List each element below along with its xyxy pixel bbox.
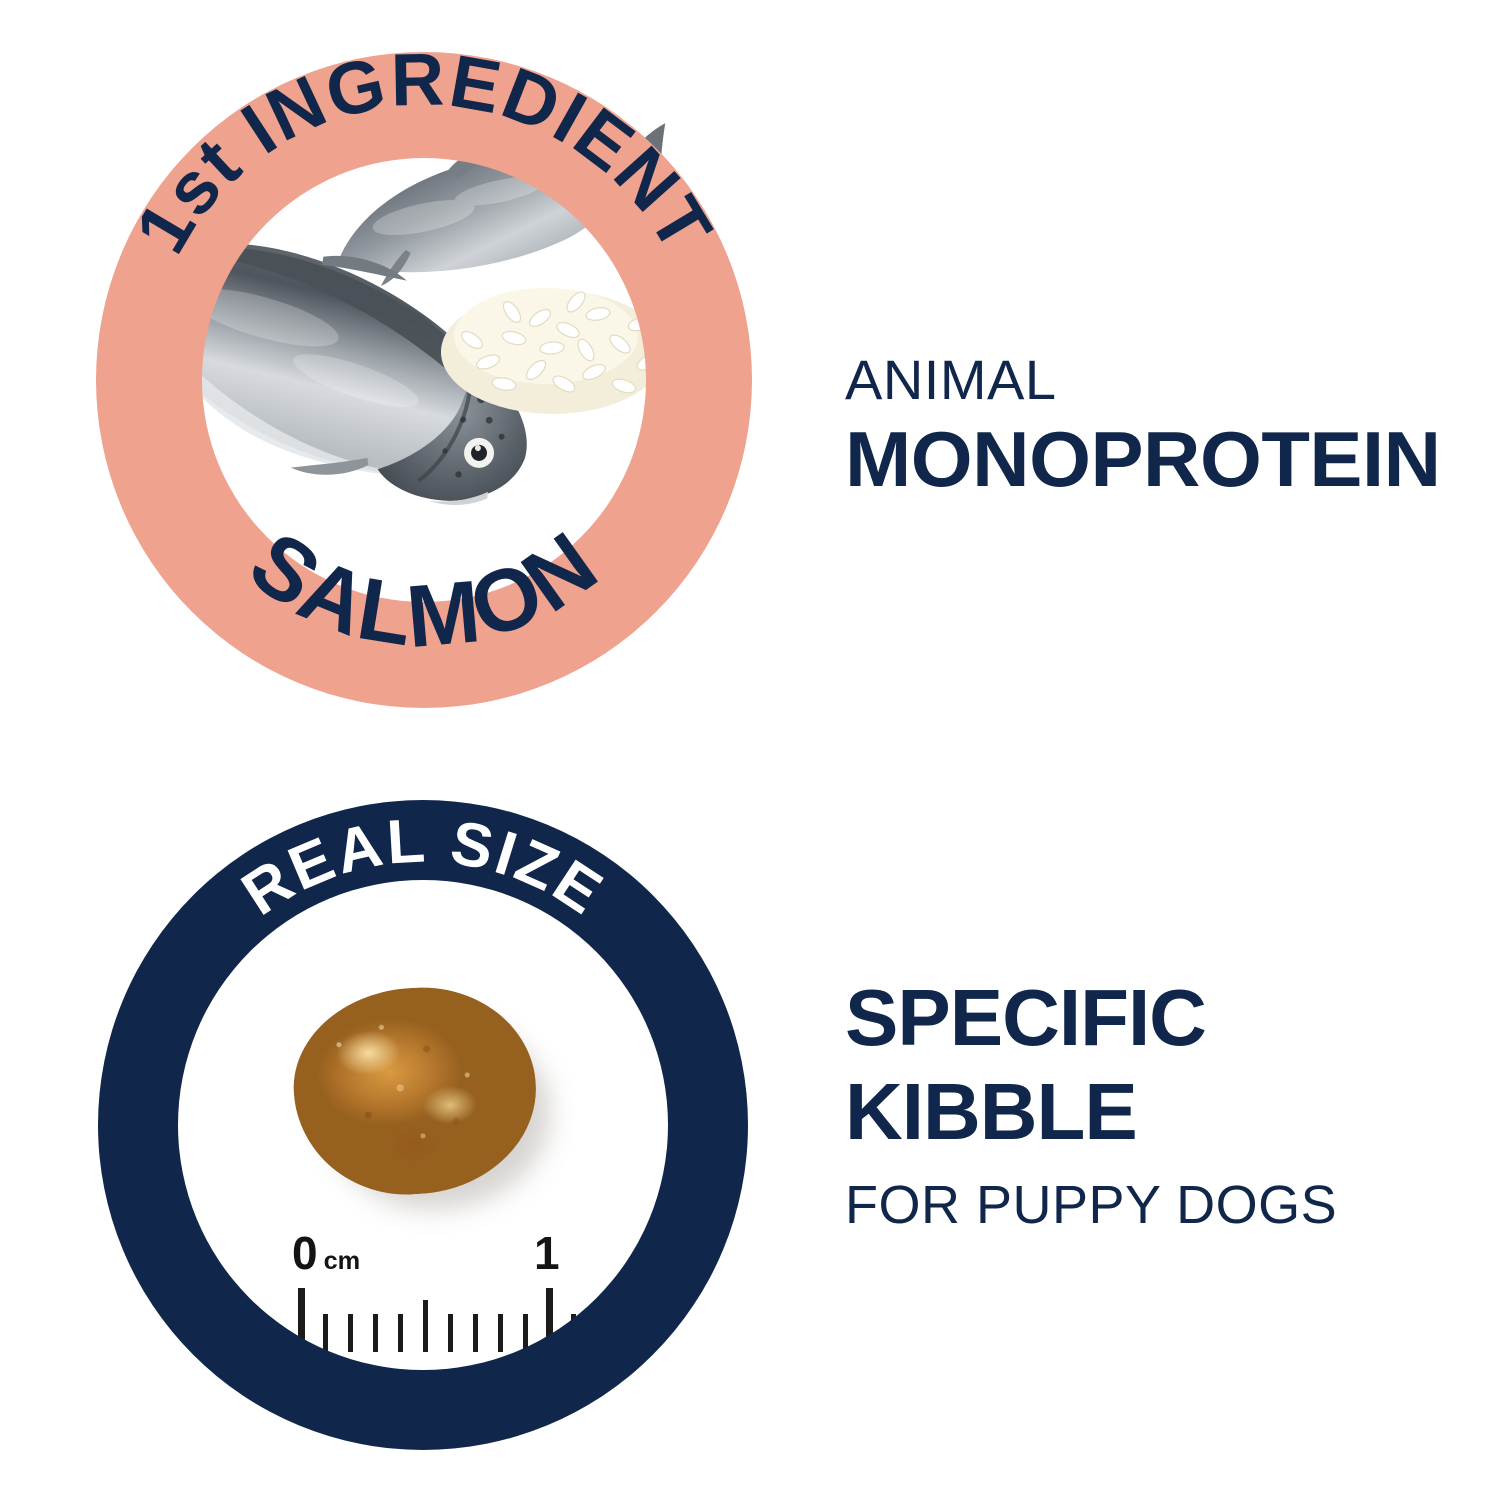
claim-monoprotein-line1: ANIMAL [845, 352, 1429, 408]
ruler-tick-9 [523, 1314, 528, 1352]
claim-kibble-line2: KIBBLE [845, 1072, 1337, 1152]
claim-kibble-line3: FOR PUPPY DOGS [845, 1178, 1337, 1232]
ruler-tick-5 [423, 1300, 428, 1352]
kibble-photo [287, 980, 543, 1202]
claim-kibble-line1: SPECIFIC [845, 978, 1337, 1058]
ruler-unit-label: cm [324, 1247, 361, 1275]
ruler-ticks [276, 1286, 616, 1352]
claim-monoprotein-line2: MONOPROTEIN [845, 420, 1441, 498]
ruler-tick-10 [546, 1288, 553, 1352]
ruler-label-one: 1 [534, 1230, 560, 1276]
claim-kibble: SPECIFIC KIBBLE FOR PUPPY DOGS [845, 978, 1337, 1232]
ruler-tick-4 [398, 1314, 403, 1352]
ruler-tick-6 [448, 1314, 453, 1352]
salmon-and-rice-photo [96, 52, 752, 708]
ruler-tick-7 [473, 1314, 478, 1352]
ruler-label-zero: 0cm [292, 1230, 360, 1276]
ruler-tick-0 [298, 1288, 305, 1352]
poster-canvas: 1st INGREDIENT SALMON ANIMAL MONOPROTEIN… [0, 0, 1500, 1500]
badge-real-size: 0cm 1 [98, 800, 748, 1450]
ruler-tick-11 [571, 1314, 576, 1352]
ruler-tick-1 [323, 1314, 328, 1352]
ruler-tick-12 [594, 1322, 599, 1352]
ruler-tick-3 [373, 1314, 378, 1352]
claim-monoprotein: ANIMAL MONOPROTEIN [845, 352, 1429, 498]
arc-text-real-size: REAL SIZE [230, 806, 616, 929]
badge-first-ingredient-salmon: 1st INGREDIENT SALMON [96, 52, 752, 708]
ruler-tick-2 [348, 1314, 353, 1352]
size-ruler: 0cm 1 [276, 1230, 616, 1360]
ruler-tick-8 [498, 1314, 503, 1352]
